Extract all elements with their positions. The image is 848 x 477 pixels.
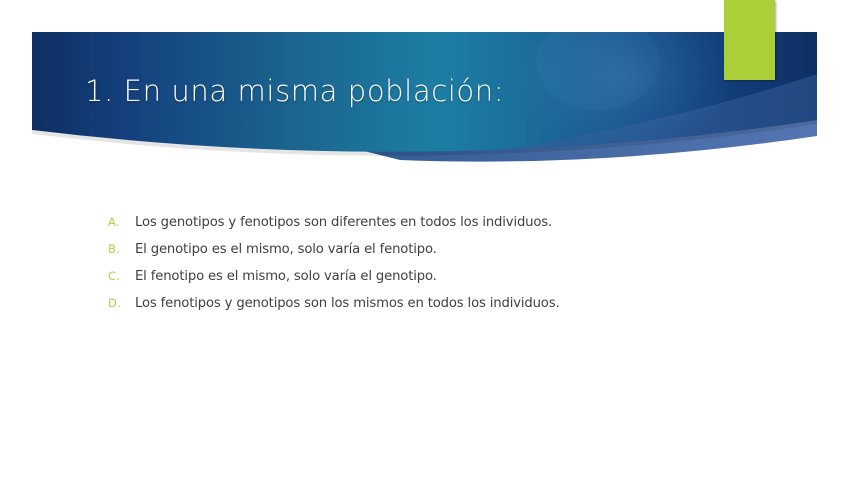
option-text-c: El fenotipo es el mismo, solo varía el g… (135, 263, 808, 290)
option-text-a: Los genotipos y fenotipos son diferentes… (135, 209, 808, 236)
option-marker-b: B. (108, 236, 135, 263)
green-accent-bar (724, 0, 775, 80)
option-marker-c: C. (108, 263, 135, 290)
option-marker-d: D. (108, 290, 135, 317)
answer-option-a[interactable]: A. Los genotipos y fenotipos son diferen… (108, 209, 808, 236)
option-text-b: El genotipo es el mismo, solo varía el f… (135, 236, 808, 263)
option-text-d: Los fenotipos y genotipos son los mismos… (135, 290, 808, 317)
answer-option-b[interactable]: B. El genotipo es el mismo, solo varía e… (108, 236, 808, 263)
option-marker-a: A. (108, 209, 135, 236)
answer-options-list: A. Los genotipos y fenotipos son diferen… (108, 209, 808, 317)
slide-canvas: 1. En una misma población: A. Los genoti… (0, 0, 848, 477)
slide-title: 1. En una misma población: (85, 72, 725, 110)
answer-option-d[interactable]: D. Los fenotipos y genotipos son los mis… (108, 290, 808, 317)
answer-option-c[interactable]: C. El fenotipo es el mismo, solo varía e… (108, 263, 808, 290)
